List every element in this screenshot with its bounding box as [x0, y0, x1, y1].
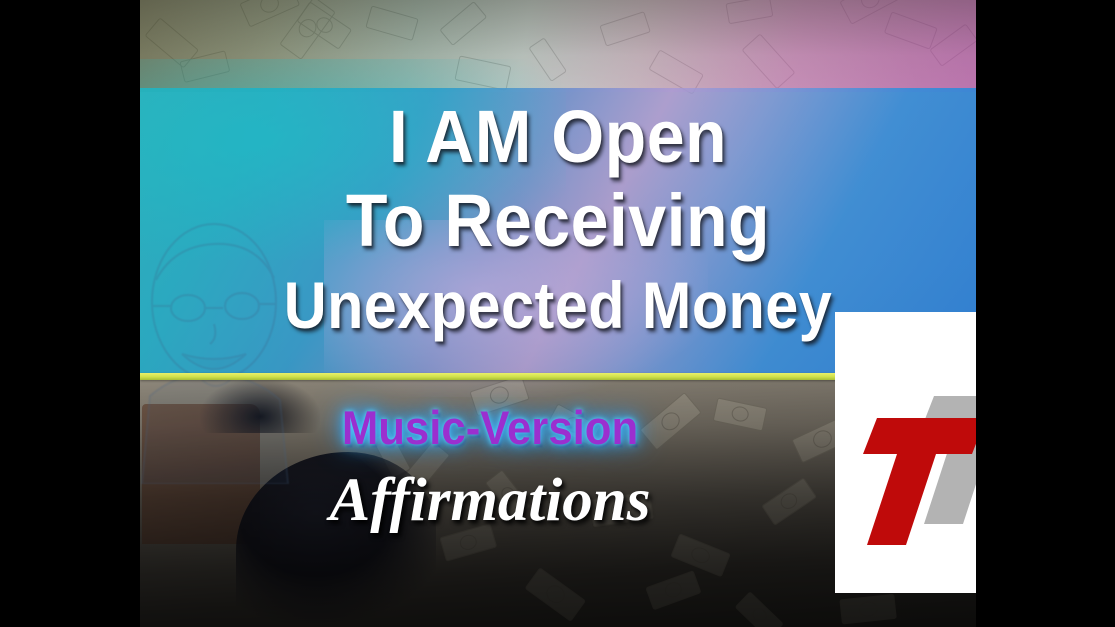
headline-line-1: I AM Open [173, 100, 942, 174]
music-version-label: Music-Version [165, 404, 816, 451]
headline-line-2: To Receiving [173, 184, 942, 258]
video-thumbnail: I AM Open To Receiving Unexpected Money … [0, 0, 1115, 627]
headline-line-3: Unexpected Money [182, 272, 934, 338]
letterbox-bar-right [976, 0, 1115, 627]
top-vignette [140, 0, 976, 92]
affirmations-label: Affirmations [140, 470, 840, 531]
letterbox-bar-left [0, 0, 140, 627]
